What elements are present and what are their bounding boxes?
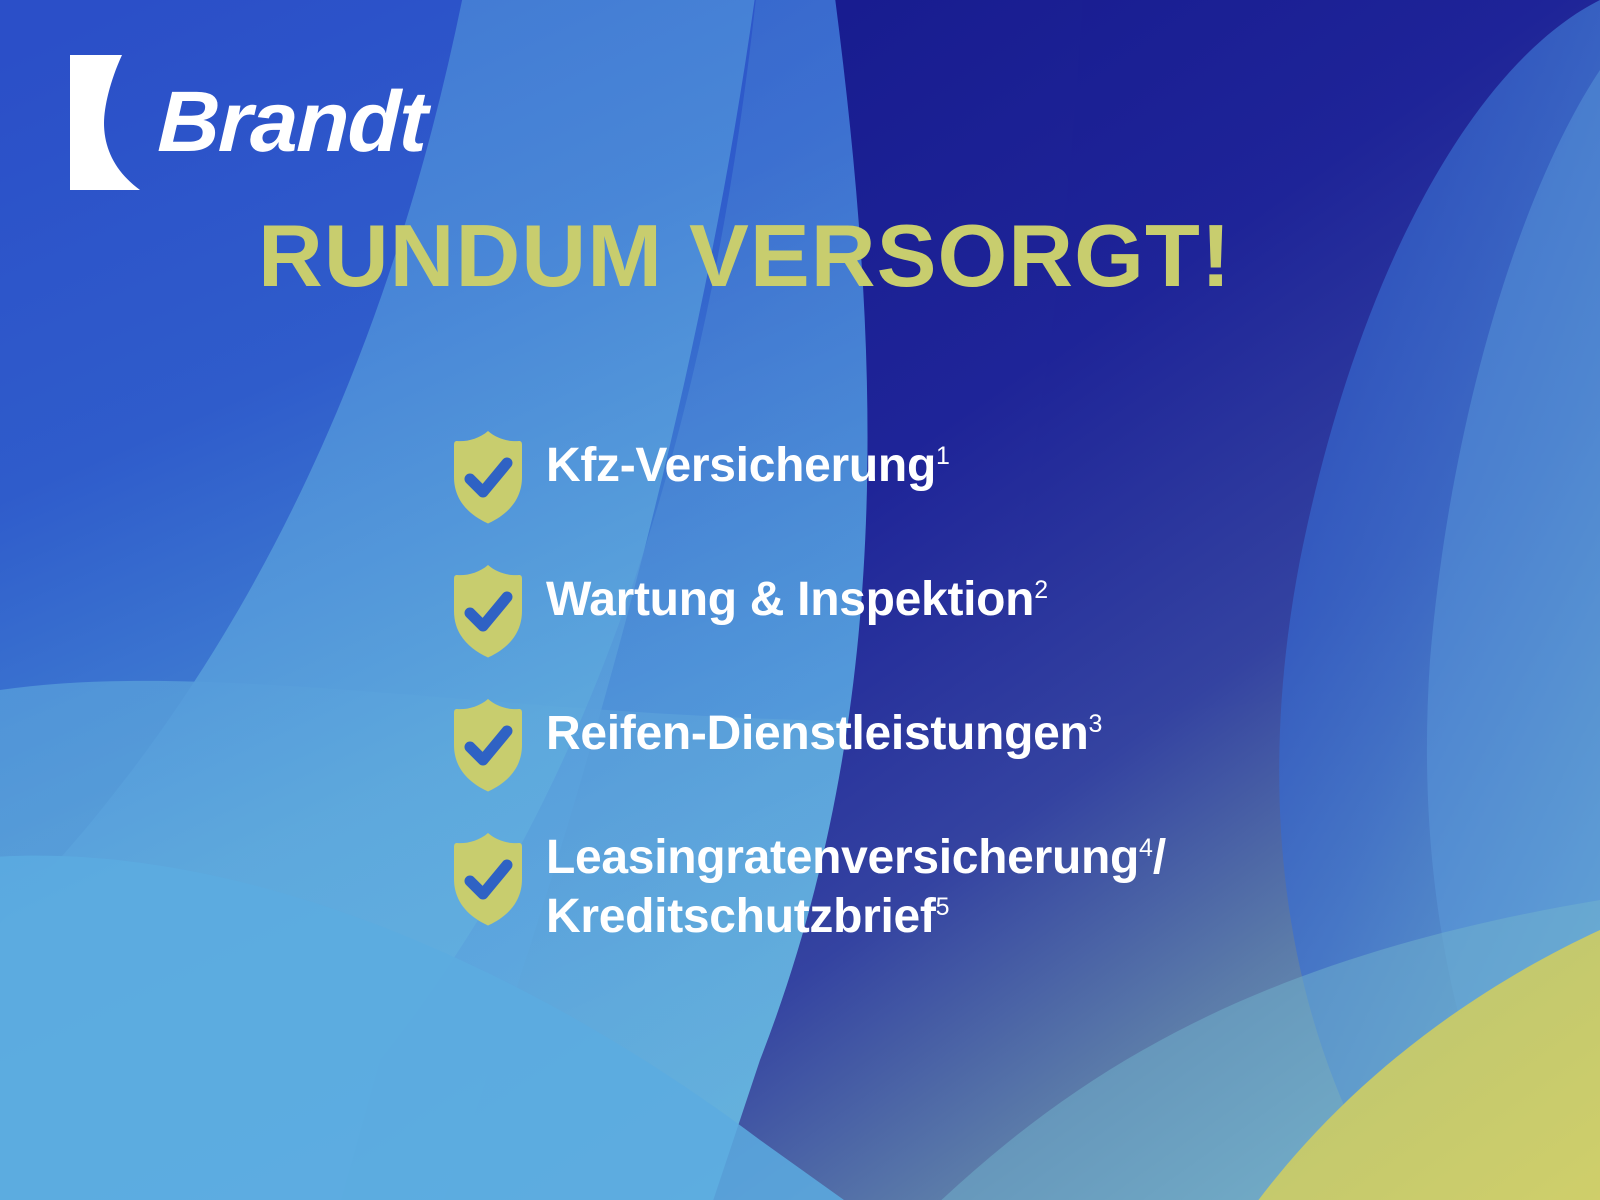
brandt-bracket-mark-icon (70, 55, 152, 190)
shield-check-icon (452, 831, 524, 927)
shield-check-icon (452, 563, 524, 659)
benefit-text-main: Wartung & Inspektion (546, 573, 1034, 626)
page-title: RUNDUM VERSORGT! (258, 212, 1232, 300)
benefits-list: Kfz-Versicherung1 Wartung & Inspektion2 … (452, 415, 1542, 970)
benefit-text-secondary: Kreditschutzbrief (546, 890, 936, 943)
list-item-label: Wartung & Inspektion2 (546, 549, 1048, 630)
list-item: Kfz-Versicherung1 (452, 415, 1542, 525)
benefit-text-main: Reifen-Dienstleistungen (546, 707, 1089, 760)
list-item: Wartung & Inspektion2 (452, 549, 1542, 659)
list-item-label: Kfz-Versicherung1 (546, 415, 950, 496)
footnote-marker: 4 (1139, 834, 1153, 862)
list-item-label: Leasingratenversicherung4/Kreditschutzbr… (546, 817, 1166, 946)
list-item: Reifen-Dienstleistungen3 (452, 683, 1542, 793)
brandt-logo[interactable]: Brandt (70, 52, 426, 192)
benefit-separator: / (1153, 831, 1166, 884)
benefit-text-main: Kfz-Versicherung (546, 439, 936, 492)
footnote-marker: 2 (1034, 576, 1048, 604)
promo-poster: Brandt RUNDUM VERSORGT! Kfz-Versicherung… (0, 0, 1600, 1200)
brandt-wordmark: Brandt (156, 79, 427, 165)
shield-check-icon (452, 429, 524, 525)
benefit-text-main: Leasingratenversicherung (546, 831, 1139, 884)
shield-check-icon (452, 697, 524, 793)
list-item: Leasingratenversicherung4/Kreditschutzbr… (452, 817, 1542, 946)
footnote-marker: 1 (936, 442, 950, 470)
footnote-marker: 3 (1089, 710, 1103, 738)
list-item-label: Reifen-Dienstleistungen3 (546, 683, 1102, 764)
footnote-marker: 5 (936, 893, 950, 921)
